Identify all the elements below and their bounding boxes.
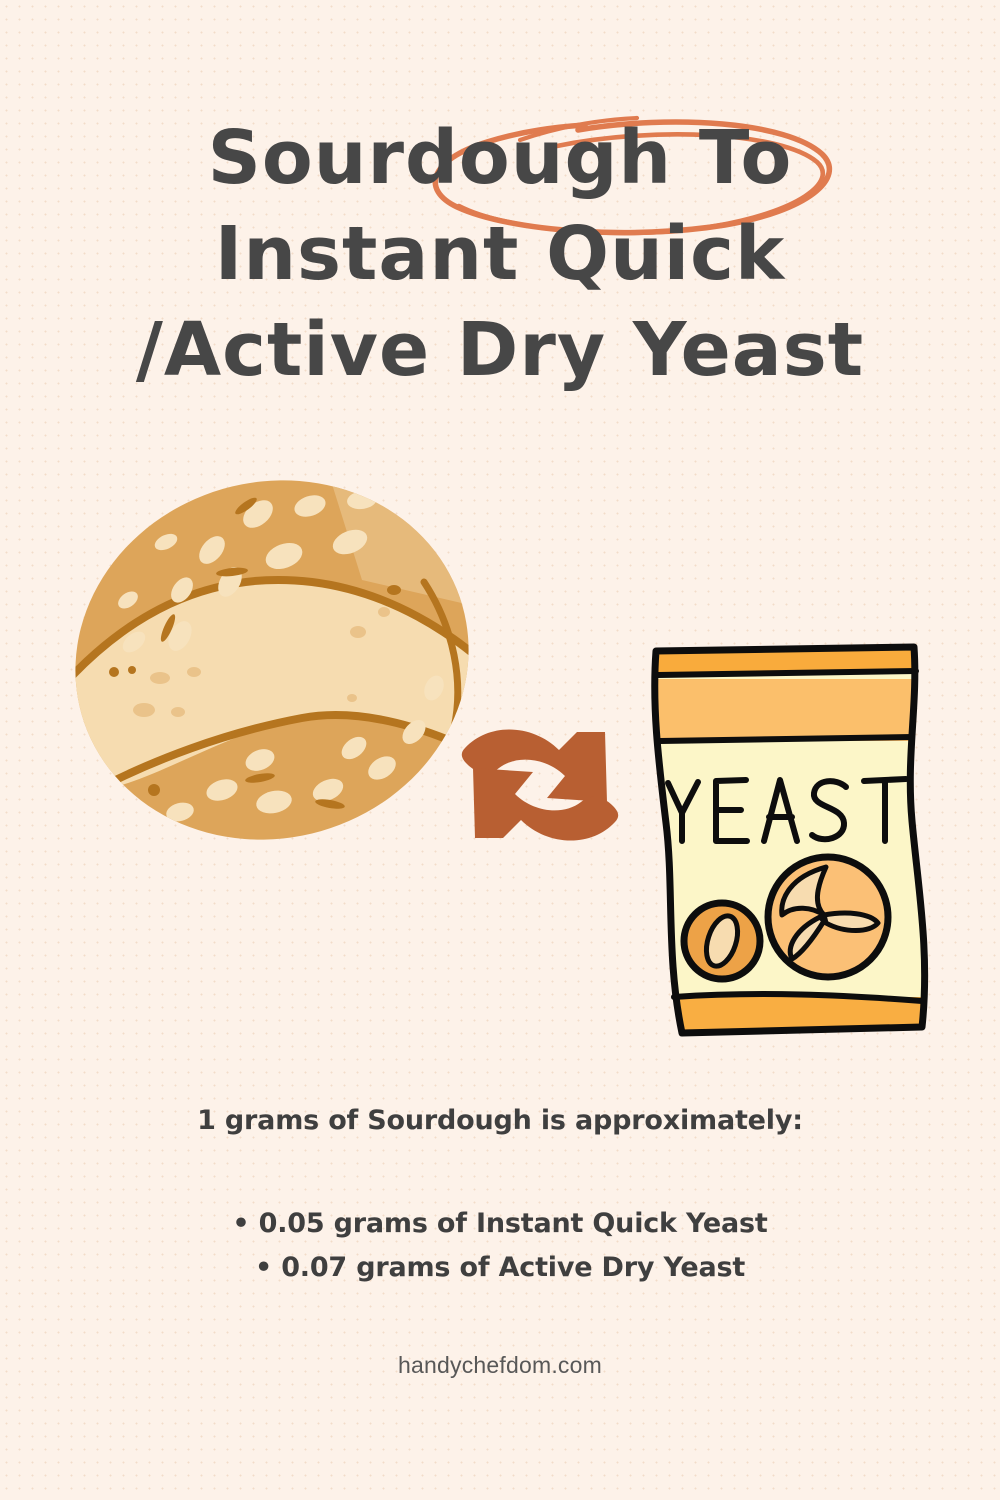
footer-website: handychefdom.com (0, 1352, 1000, 1379)
title-line-1: Sourdough To (0, 110, 1000, 206)
conversion-results-list: • 0.05 grams of Instant Quick Yeast • 0.… (0, 1202, 1000, 1290)
yeast-seed-granule-icon (684, 903, 760, 979)
conversion-heading: 1 grams of Sourdough is approximately: (0, 1105, 1000, 1136)
title-line-3: /Active Dry Yeast (0, 302, 1000, 398)
yeast-budding-granule-icon (768, 857, 888, 977)
list-item: • 0.07 grams of Active Dry Yeast (0, 1246, 1000, 1290)
illustration-row (0, 430, 1000, 1080)
sourdough-loaf-illustration (62, 460, 482, 860)
page-title: Sourdough To Instant Quick /Active Dry Y… (0, 110, 1000, 398)
conversion-swap-arrows-icon (455, 710, 630, 860)
title-line-2: Instant Quick (0, 206, 1000, 302)
yeast-package-illustration (630, 635, 940, 1045)
infographic-canvas: Sourdough To Instant Quick /Active Dry Y… (0, 0, 1000, 1500)
list-item: • 0.05 grams of Instant Quick Yeast (0, 1202, 1000, 1246)
conversion-text-block: 1 grams of Sourdough is approximately: •… (0, 1105, 1000, 1290)
